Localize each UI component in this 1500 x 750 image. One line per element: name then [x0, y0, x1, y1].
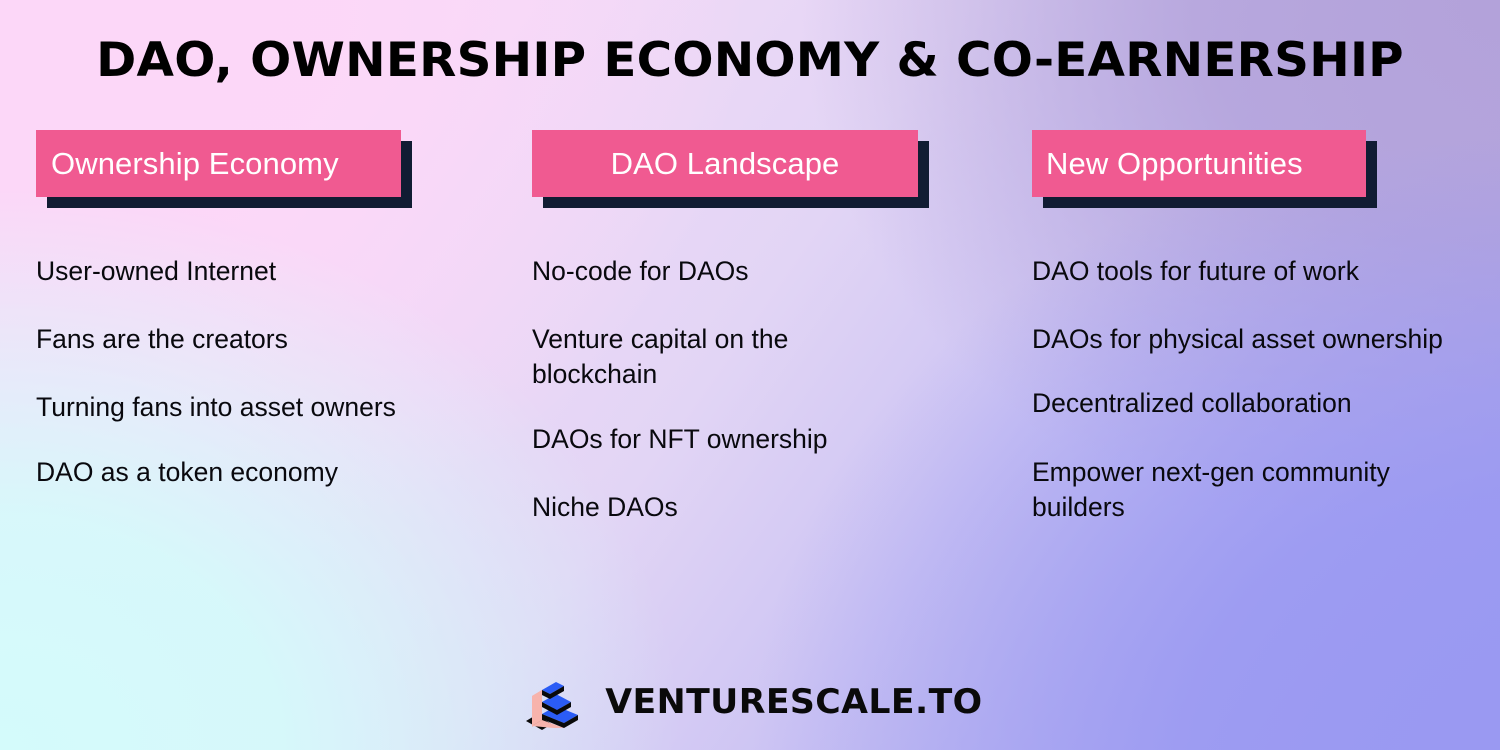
items-list-dao-landscape: No-code for DAOs Venture capital on the …	[532, 254, 972, 525]
brand-name: VENTURESCALE.TO	[605, 682, 982, 722]
staircase-steps-icon	[522, 672, 588, 732]
slide-canvas: DAO, OWNERSHIP ECONOMY & CO-EARNERSHIP O…	[0, 0, 1500, 750]
column-header-label: New Opportunities	[1046, 146, 1303, 182]
list-item: DAOs for physical asset ownership	[1032, 322, 1482, 357]
items-list-new-opportunities: DAO tools for future of work DAOs for ph…	[1032, 254, 1482, 525]
items-list-ownership-economy: User-owned Internet Fans are the creator…	[36, 254, 472, 490]
list-item: Venture capital on the blockchain	[532, 322, 912, 392]
list-item: No-code for DAOs	[532, 254, 912, 289]
list-item: DAO tools for future of work	[1032, 254, 1482, 289]
list-item: Empower next-gen community builders	[1032, 455, 1482, 525]
list-item: Fans are the creators	[36, 322, 456, 357]
column-new-opportunities: New Opportunities DAO tools for future o…	[1000, 130, 1500, 558]
column-ownership-economy: Ownership Economy User-owned Internet Fa…	[0, 130, 500, 558]
list-item: DAOs for NFT ownership	[532, 422, 912, 457]
chip-background: DAO Landscape	[532, 130, 918, 197]
column-header-dao-landscape: DAO Landscape	[532, 130, 972, 210]
column-dao-landscape: DAO Landscape No-code for DAOs Venture c…	[500, 130, 1000, 558]
column-header-label: DAO Landscape	[611, 146, 840, 182]
list-item: Turning fans into asset owners	[36, 390, 456, 425]
chip-background: New Opportunities	[1032, 130, 1366, 197]
column-header-new-opportunities: New Opportunities	[1032, 130, 1482, 210]
columns-container: Ownership Economy User-owned Internet Fa…	[0, 130, 1500, 558]
list-item: Decentralized collaboration	[1032, 386, 1482, 421]
column-header-label: Ownership Economy	[51, 146, 339, 182]
footer-brand-lockup: VENTURESCALE.TO	[0, 672, 1500, 732]
page-title: DAO, OWNERSHIP ECONOMY & CO-EARNERSHIP	[0, 36, 1500, 85]
list-item: User-owned Internet	[36, 254, 456, 289]
list-item: DAO as a token economy	[36, 455, 456, 490]
list-item: Niche DAOs	[532, 490, 912, 525]
chip-background: Ownership Economy	[36, 130, 401, 197]
column-header-ownership-economy: Ownership Economy	[36, 130, 472, 210]
